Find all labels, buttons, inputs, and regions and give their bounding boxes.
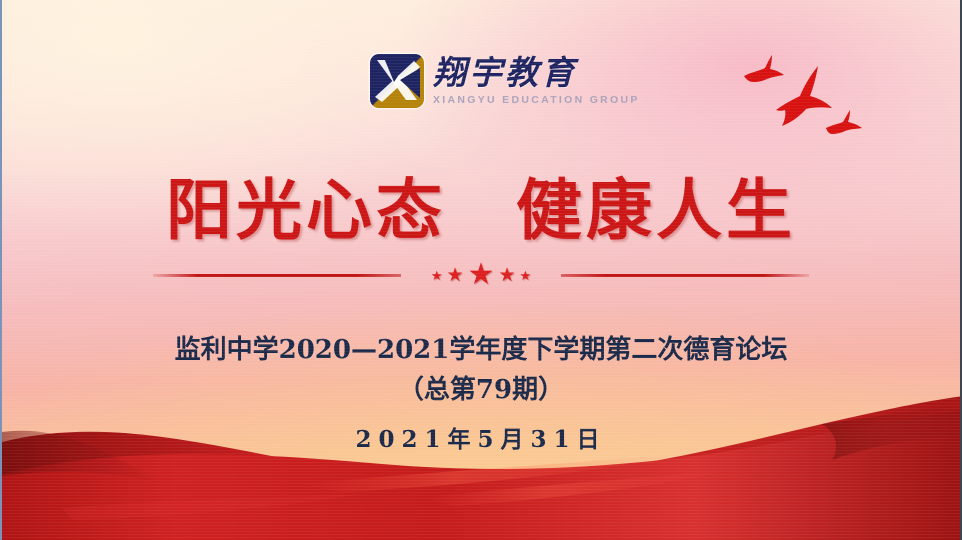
presentation-title-slide: 翔宇教育 XIANGYU EDUCATION GROUP 阳光心态 健康人生 ★… (0, 0, 962, 540)
slide-main-title: 阳光心态 健康人生 (2, 172, 960, 250)
slide-subtitle-line-2: （总第79期） (2, 370, 960, 410)
logo-name-cn: 翔宇教育 (433, 54, 640, 92)
xiangyu-education-logo: 翔宇教育 XIANGYU EDUCATION GROUP (370, 54, 640, 108)
slide-subtitle-line-1: 监利中学2020—2021学年度下学期第二次德育论坛 (2, 330, 960, 370)
xiangyu-x-mark-icon (370, 54, 424, 108)
flying-doves-icon (728, 44, 878, 144)
divider-rule-right (561, 274, 809, 277)
logo-name-en: XIANGYU EDUCATION GROUP (433, 93, 640, 107)
divider-star-1: ★ (431, 269, 443, 282)
divider-star-2: ★ (447, 266, 464, 285)
divider-star-3: ★ (468, 260, 495, 290)
star-divider: ★ ★ ★ ★ ★ (2, 262, 960, 288)
divider-rule-left (153, 274, 401, 277)
slide-date: 2021年5月31日 (2, 424, 960, 456)
divider-star-4: ★ (498, 266, 515, 285)
divider-star-5: ★ (520, 269, 532, 282)
divider-stars: ★ ★ ★ ★ ★ (421, 260, 541, 290)
